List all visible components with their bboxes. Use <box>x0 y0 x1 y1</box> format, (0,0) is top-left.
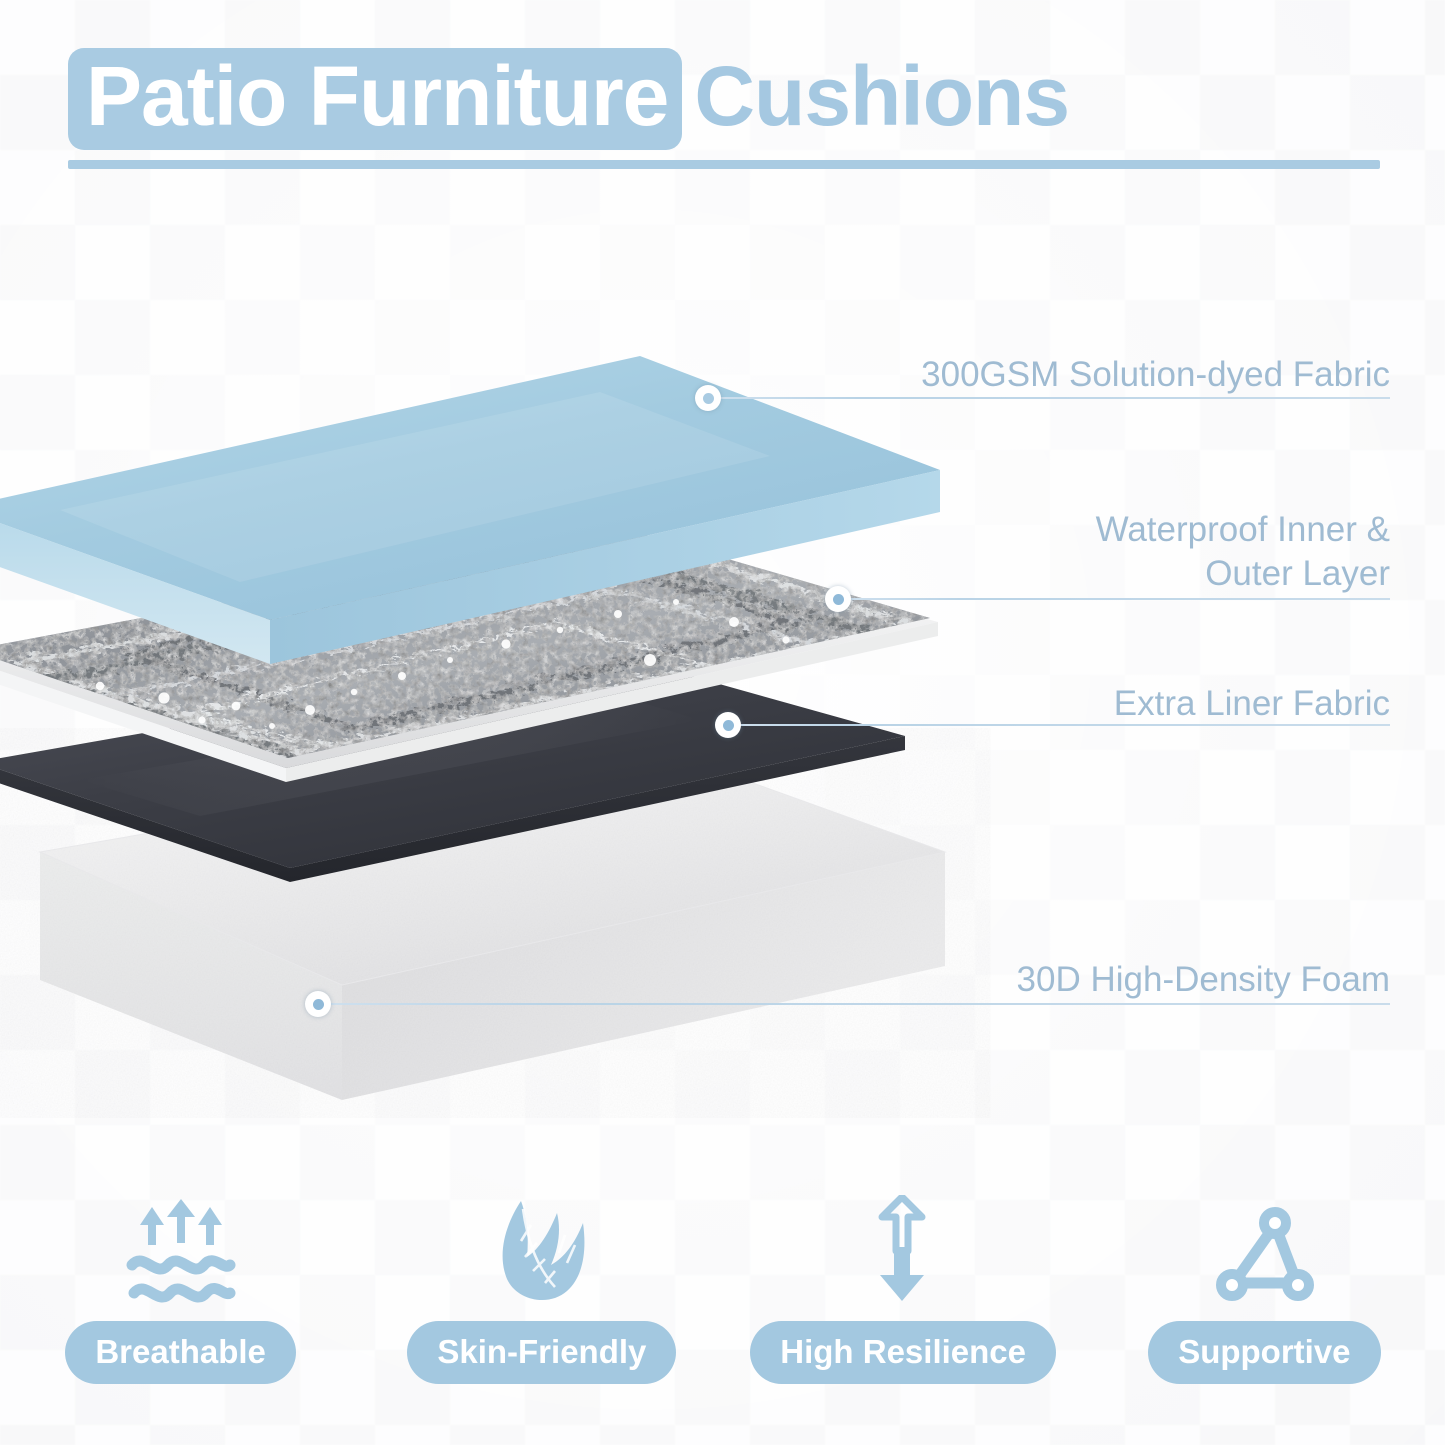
product-infographic: Patio Furniture Cushions <box>0 0 1445 1445</box>
callout-line-waterproof <box>838 598 1390 600</box>
breathable-arrows-waves-icon <box>122 1195 240 1307</box>
feature-badge-row: Breathable <box>0 1195 1445 1384</box>
feature-label-breathable[interactable]: Breathable <box>65 1321 296 1384</box>
feather-icon <box>487 1195 597 1307</box>
up-down-arrows-icon <box>858 1195 948 1307</box>
feature-skin-friendly: Skin-Friendly <box>361 1195 722 1384</box>
callout-label-fabric: 300GSM Solution-dyed Fabric <box>690 353 1390 397</box>
feature-high-resilience: High Resilience <box>723 1195 1084 1384</box>
title-highlighted-text: Patio Furniture <box>68 48 682 150</box>
title-plain-text: Cushions <box>682 54 1069 144</box>
feature-label-high-resilience[interactable]: High Resilience <box>750 1321 1056 1384</box>
feature-supportive: Supportive <box>1084 1195 1445 1384</box>
feature-breathable: Breathable <box>0 1195 361 1384</box>
callout-line-fabric <box>708 397 1390 399</box>
callout-dot-foam <box>305 991 331 1017</box>
callout-line-foam <box>318 1003 1390 1005</box>
callout-label-waterproof: Waterproof Inner & Outer Layer <box>690 508 1390 596</box>
callout-label-liner: Extra Liner Fabric <box>690 682 1390 726</box>
page-title: Patio Furniture Cushions <box>68 48 1069 150</box>
feature-label-supportive[interactable]: Supportive <box>1148 1321 1380 1384</box>
callout-label-foam: 30D High-Density Foam <box>690 958 1390 1002</box>
title-underline-bar <box>68 160 1380 169</box>
feature-label-skin-friendly[interactable]: Skin-Friendly <box>407 1321 676 1384</box>
triangle-nodes-icon <box>1212 1195 1316 1307</box>
